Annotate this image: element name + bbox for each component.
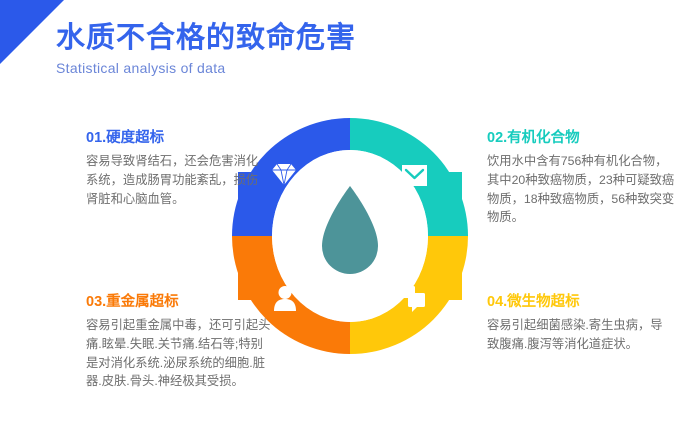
wheel-inner-disc	[272, 150, 428, 322]
info-block-02: 02.有机化合物 饮用水中含有756种有机化合物，其中20种致癌物质，23种可疑…	[487, 130, 675, 227]
info-block-04-title: 04.微生物超标	[487, 294, 673, 311]
infographic-slide: 水质不合格的致命危害 Statistical analysis of data	[0, 0, 700, 448]
info-block-01-title: 01.硬度超标	[86, 130, 266, 147]
segment-tab-bottom-right-step	[422, 284, 462, 300]
info-block-02-body: 饮用水中含有756种有机化合物，其中20种致癌物质，23种可疑致癌物质，18种致…	[487, 152, 675, 227]
info-block-03: 03.重金属超标 容易引起重金属中毒，还可引起头痛.眩晕.失眠.关节痛.结石等;…	[86, 294, 272, 391]
page-header: 水质不合格的致命危害 Statistical analysis of data	[56, 22, 356, 76]
info-block-04-body: 容易引起细菌感染.寄生虫病，导致腹痛.腹泻等消化道症状。	[487, 316, 673, 353]
page-title: 水质不合格的致命危害	[56, 22, 356, 55]
segment-tab-top-right-step	[422, 172, 462, 188]
info-block-03-title: 03.重金属超标	[86, 294, 272, 311]
info-block-01: 01.硬度超标 容易导致肾结石，还会危害消化系统，造成肠胃功能紊乱，损伤肾脏和心…	[86, 130, 266, 208]
info-block-03-body: 容易引起重金属中毒，还可引起头痛.眩晕.失眠.关节痛.结石等;特别是对消化系统.…	[86, 316, 272, 391]
page-subtitle: Statistical analysis of data	[56, 60, 356, 76]
corner-triangle-decoration	[0, 0, 64, 64]
info-block-04: 04.微生物超标 容易引起细菌感染.寄生虫病，导致腹痛.腹泻等消化道症状。	[487, 294, 673, 354]
info-block-01-body: 容易导致肾结石，还会危害消化系统，造成肠胃功能紊乱，损伤肾脏和心脑血管。	[86, 152, 266, 208]
info-block-02-title: 02.有机化合物	[487, 130, 675, 147]
